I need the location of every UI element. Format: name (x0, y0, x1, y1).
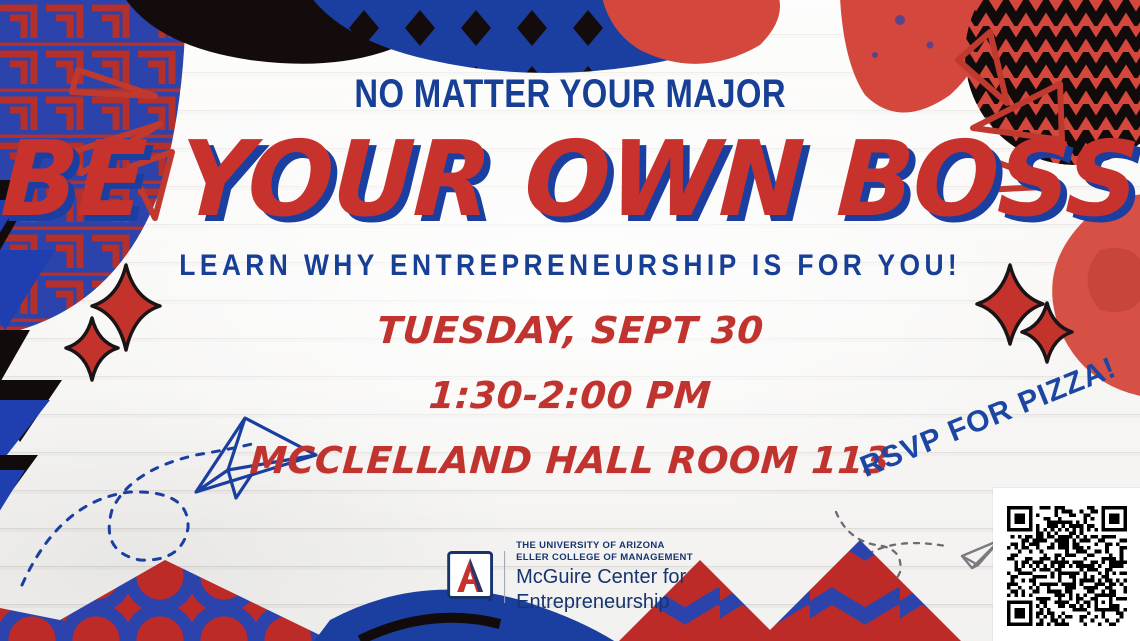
kicker-headline: NO MATTER YOUR MAJOR (354, 72, 786, 117)
main-title: BE YOUR OWN BOSS BE YOUR OWN BOSS (175, 123, 965, 235)
event-flyer: NO MATTER YOUR MAJOR BE YOUR OWN BOSS BE… (0, 0, 1140, 641)
logo-divider (504, 551, 505, 603)
logo-text-block: THE UNIVERSITY OF ARIZONA ELLER COLLEGE … (516, 540, 693, 613)
subheadline: LEARN WHY ENTREPRENEURSHIP IS FOR YOU! (179, 249, 961, 283)
logo-center-line-2: Entrepreneurship (516, 591, 693, 613)
qr-code[interactable] (1007, 506, 1127, 626)
mcguire-center-logo: THE UNIVERSITY OF ARIZONA ELLER COLLEGE … (447, 540, 693, 613)
event-time: 1:30-2:00 PM (427, 374, 712, 417)
arizona-block-a-icon (447, 551, 493, 603)
qr-code-card[interactable] (993, 488, 1140, 641)
main-title-text: BE YOUR OWN BOSS (0, 127, 1140, 231)
logo-university-line-2: ELLER COLLEGE OF MANAGEMENT (516, 552, 693, 564)
event-date: TUESDAY, SEPT 30 (375, 309, 765, 352)
logo-center-line-1: McGuire Center for (516, 566, 693, 588)
logo-university-line-1: THE UNIVERSITY OF ARIZONA (516, 540, 693, 552)
event-location: MCCLELLAND HALL ROOM 113 (248, 439, 891, 482)
